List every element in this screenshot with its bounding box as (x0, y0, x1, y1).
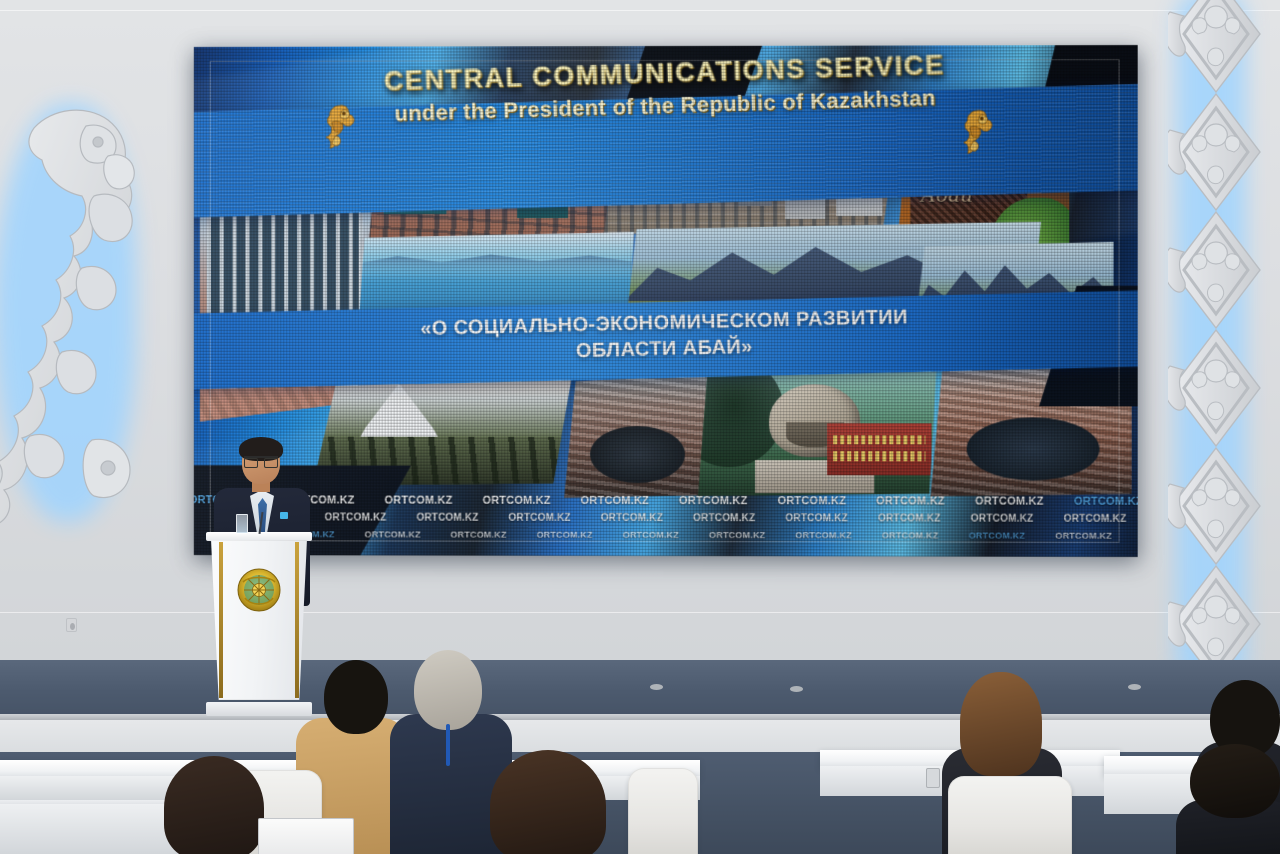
open-laptop[interactable] (258, 818, 354, 854)
kazakh-ornament-panel-icon (1168, 0, 1264, 686)
eyeglasses-icon (244, 456, 278, 464)
lanyard (446, 724, 450, 766)
watermark-row: ORTCOM.KZ ORTCOM.KZ ORTCOM.KZ ORTCOM.KZ … (194, 494, 1138, 508)
wall-seam (0, 612, 1280, 613)
power-socket (66, 618, 77, 632)
tulpar-winged-horse-icon (961, 107, 995, 155)
floor-marker (1128, 684, 1141, 690)
watermark-row: ORTCOM.KZ ORTCOM.KZ ORTCOM.KZ ORTCOM.KZ … (224, 529, 1138, 541)
snow-leopard-relief-icon (0, 100, 140, 528)
podium-gold-rail (219, 542, 223, 698)
wall-seam (0, 10, 1280, 11)
person-head (164, 756, 264, 854)
kazakh-red-sign (827, 423, 932, 475)
watermark-block: ORTCOM.KZ ORTCOM.KZ ORTCOM.KZ ORTCOM.KZ … (194, 494, 1138, 547)
person-head (324, 660, 388, 734)
photo-tile-rock-formation (564, 374, 708, 498)
watermark-row: ORTCOM.KZ ORTCOM.KZ ORTCOM.KZ ORTCOM.KZ … (208, 512, 1138, 525)
photo-tile-abai-kunanbaev-bust (698, 366, 937, 496)
journalist-long-hair-center (474, 750, 624, 854)
person-head (414, 650, 482, 730)
stage-carpet-back (0, 660, 1280, 718)
led-video-wall[interactable]: АБАЙ Абай (194, 45, 1138, 557)
blue-flag-pin-icon (280, 512, 288, 519)
floor-marker (790, 686, 803, 692)
chair[interactable] (628, 768, 698, 854)
person-head (490, 750, 606, 854)
briefing-hall-scene: АБАЙ Абай (0, 0, 1280, 854)
person-head (1190, 744, 1280, 818)
journalist-dark-suit-far-right (1176, 744, 1280, 854)
kazakhstan-state-emblem-icon (237, 568, 281, 612)
tulpar-winged-horse-icon (323, 102, 357, 150)
floor-marker (650, 684, 663, 690)
person-head (960, 672, 1042, 776)
smartphone-icon (926, 768, 940, 788)
chair[interactable] (948, 776, 1072, 854)
water-glass (236, 514, 248, 534)
podium-body (211, 540, 307, 700)
